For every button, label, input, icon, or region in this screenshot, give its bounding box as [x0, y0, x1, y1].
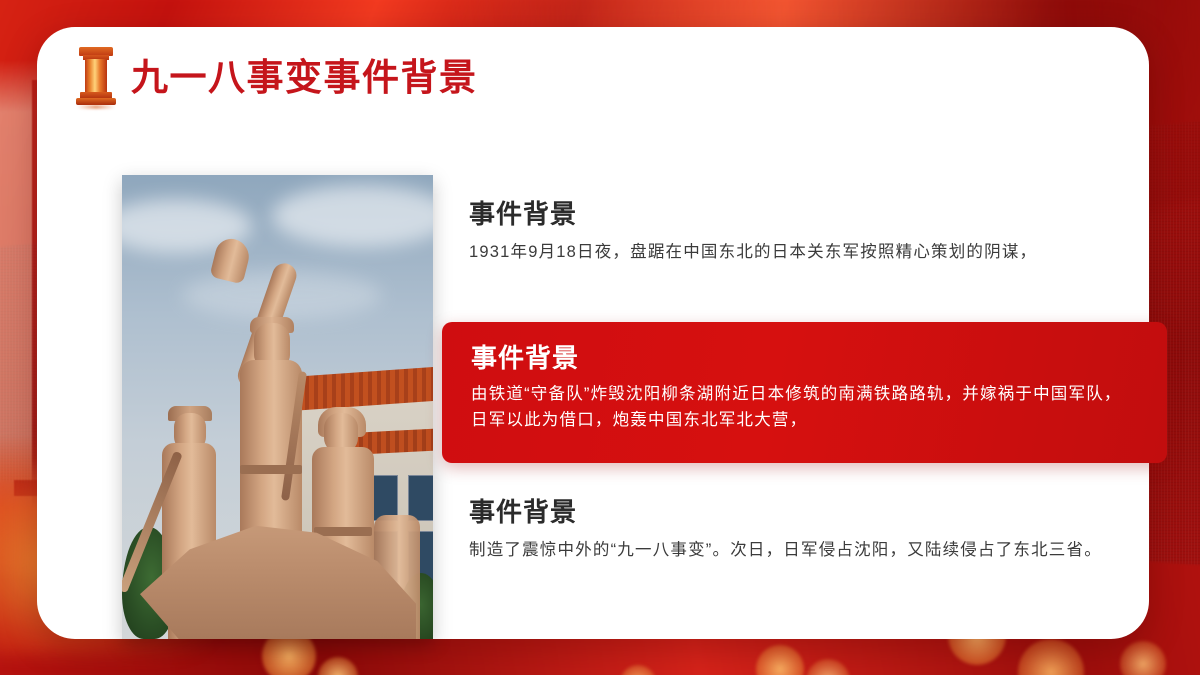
- statue-belt: [314, 527, 372, 536]
- photo-window: [408, 475, 433, 521]
- slide-header: 九一八事变事件背景: [75, 45, 478, 109]
- page-title: 九一八事变事件背景: [131, 59, 478, 96]
- section-heading: 事件背景: [469, 199, 1169, 230]
- statue-belt: [240, 465, 302, 474]
- section-block-3: 事件背景 制造了震惊中外的“九一八事变”。次日，日军侵占沈阳，又陆续侵占了东北三…: [469, 497, 1169, 564]
- monument-photo: [122, 175, 433, 639]
- section-body: 由铁道“守备队”炸毁沈阳柳条湖附近日本修筑的南满铁路路轨，并嫁祸于中国军队，日军…: [471, 382, 1136, 433]
- content-card: 九一八事变事件背景: [37, 27, 1149, 639]
- section-heading: 事件背景: [471, 343, 1139, 374]
- section-block-1: 事件背景 1931年9月18日夜，盘踞在中国东北的日本关东军按照精心策划的阴谋，: [469, 199, 1169, 266]
- slide-root: 九一八事变事件背景: [0, 0, 1200, 675]
- section-body: 制造了震惊中外的“九一八事变”。次日，日军侵占沈阳，又陆续侵占了东北三省。: [469, 538, 1119, 564]
- monument-icon: [75, 45, 117, 109]
- section-body: 1931年9月18日夜，盘踞在中国东北的日本关东军按照精心策划的阴谋，: [469, 240, 1119, 266]
- section-heading: 事件背景: [469, 497, 1169, 528]
- section-block-2-highlighted[interactable]: 事件背景 由铁道“守备队”炸毁沈阳柳条湖附近日本修筑的南满铁路路轨，并嫁祸于中国…: [442, 322, 1167, 463]
